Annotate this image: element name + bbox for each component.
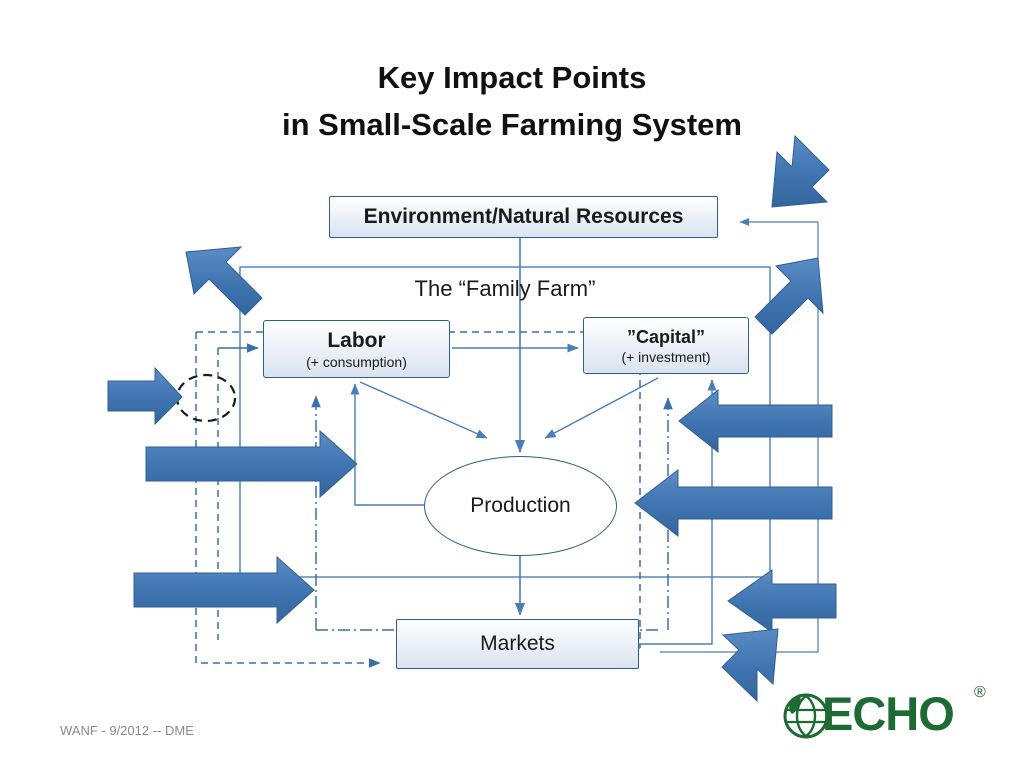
node-markets-label: Markets bbox=[480, 632, 555, 656]
registered-trademark-icon: ® bbox=[974, 684, 986, 702]
impact-arrow-right-into-capital-feedback bbox=[679, 390, 832, 452]
family-farm-label: The “Family Farm” bbox=[240, 276, 770, 302]
node-production-label: Production bbox=[470, 494, 570, 518]
impact-arrow-left-into-farm-upper bbox=[146, 431, 357, 497]
dashed-impact-circle bbox=[177, 375, 235, 421]
node-capital-sublabel: (+ investment) bbox=[621, 349, 710, 365]
node-environment-label: Environment/Natural Resources bbox=[364, 205, 684, 229]
slide-canvas: Key Impact Points in Small-Scale Farming… bbox=[0, 0, 1024, 768]
node-labor-label: Labor bbox=[327, 329, 385, 353]
node-capital-label: ”Capital” bbox=[627, 327, 705, 348]
impact-arrow-right-into-markets-upper bbox=[728, 570, 836, 632]
page-title-line1: Key Impact Points bbox=[0, 58, 1024, 98]
node-capital[interactable]: ”Capital” (+ investment) bbox=[583, 317, 749, 374]
node-labor-sublabel: (+ consumption) bbox=[306, 354, 407, 370]
impact-arrow-far-left-into-circle bbox=[108, 368, 182, 424]
impact-arrow-top-right-into-environment bbox=[772, 136, 829, 207]
impact-arrow-right-into-production bbox=[635, 470, 832, 536]
echo-wordmark: ECHO bbox=[822, 686, 954, 741]
impact-arrow-lower-right-into-markets bbox=[722, 629, 778, 701]
node-production[interactable]: Production bbox=[424, 456, 617, 556]
node-labor[interactable]: Labor (+ consumption) bbox=[263, 320, 450, 378]
impact-arrow-left-into-farm-lower bbox=[134, 557, 314, 623]
node-markets[interactable]: Markets bbox=[396, 619, 639, 669]
echo-logo: ECHO ® bbox=[782, 684, 992, 746]
node-environment[interactable]: Environment/Natural Resources bbox=[329, 196, 718, 238]
page-title-line2: in Small-Scale Farming System bbox=[0, 105, 1024, 145]
footer-note: WANF - 9/2012 -- DME bbox=[60, 723, 194, 738]
